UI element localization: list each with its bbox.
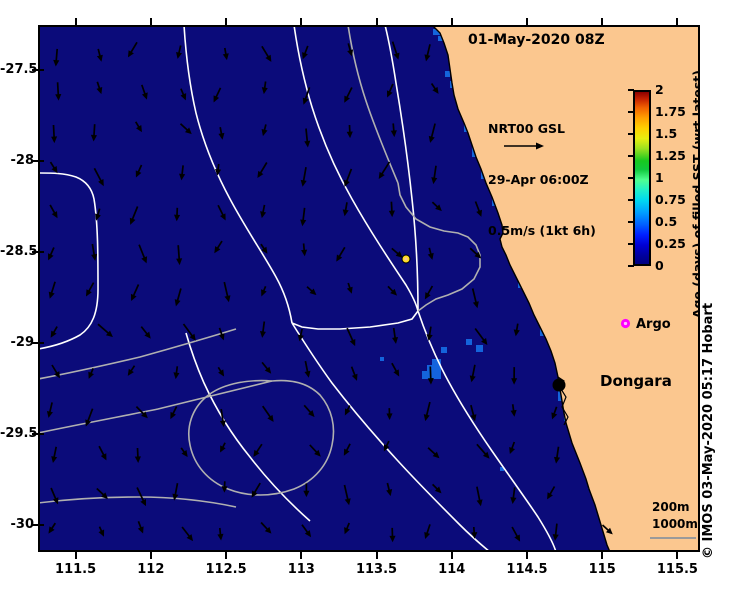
x-tick-mark — [150, 552, 152, 559]
y-tick-label: -29.5 — [0, 426, 34, 441]
y-tick-mark-inner — [38, 433, 44, 435]
x-tick-label: 112.5 — [196, 562, 256, 577]
copyright-text: © IMOS 03-May-2020 05:17 Hobart — [701, 303, 716, 559]
x-tick-mark — [300, 552, 302, 559]
y-tick-mark-inner — [38, 69, 44, 71]
colorbar-tick-label: 1.75 — [655, 104, 686, 119]
x-tick-label: 112 — [121, 562, 181, 577]
x-tick-label: 114 — [422, 562, 482, 577]
x-tick-label: 113 — [271, 562, 331, 577]
reference-arrow-icon — [502, 140, 546, 152]
timestamp-stamp: 01-May-2020 08Z — [468, 32, 605, 48]
x-tick-label: 113.5 — [347, 562, 407, 577]
colorbar-tick-label: 0.25 — [655, 236, 686, 251]
colorbar-tick-mark — [628, 89, 634, 91]
x-tick-mark-top — [225, 18, 227, 25]
argo-marker-map — [402, 255, 410, 263]
x-tick-label: 115 — [572, 562, 632, 577]
x-tick-label: 114.5 — [497, 562, 557, 577]
argo-legend-icon — [620, 318, 631, 329]
colorbar-tick-mark — [628, 111, 634, 113]
figure-canvas: 01-May-2020 08Z NRT00 GSL 29-Apr 06:00Z … — [0, 0, 739, 592]
y-tick-label: -30 — [0, 517, 34, 532]
y-tick-mark-inner — [38, 251, 44, 253]
map-graphic — [40, 27, 698, 550]
x-tick-mark-top — [601, 18, 603, 25]
colorbar-tick-label: 1.25 — [655, 148, 686, 163]
depth-legend-200m: 200m — [652, 500, 690, 514]
y-tick-mark-inner — [38, 160, 44, 162]
current-source-annotation: NRT00 GSL 29-Apr 06:00Z 0.5m/s (1kt 6h) — [488, 86, 596, 273]
colorbar-gradient — [633, 90, 651, 266]
colorbar-tick-label: 0 — [655, 258, 664, 273]
dongara-marker — [553, 379, 566, 392]
colorbar-tick-label: 1.5 — [655, 126, 677, 141]
colorbar-tick-mark — [628, 133, 634, 135]
colorbar-tick-mark — [628, 155, 634, 157]
x-tick-mark-top — [376, 18, 378, 25]
x-tick-mark — [601, 552, 603, 559]
x-tick-mark — [376, 552, 378, 559]
y-tick-label: -28.5 — [0, 244, 34, 259]
x-tick-mark-top — [676, 18, 678, 25]
current-source-line: NRT00 GSL — [488, 120, 596, 137]
dongara-label: Dongara — [600, 372, 672, 390]
y-tick-mark-inner — [38, 524, 44, 526]
x-tick-label: 115.5 — [647, 562, 707, 577]
x-tick-mark — [225, 552, 227, 559]
x-tick-mark — [676, 552, 678, 559]
colorbar-tick-mark — [628, 199, 634, 201]
x-tick-mark-top — [451, 18, 453, 25]
y-tick-label: -28 — [0, 153, 34, 168]
y-tick-label: -27.5 — [0, 62, 34, 77]
x-tick-mark-top — [150, 18, 152, 25]
x-tick-mark-top — [300, 18, 302, 25]
colorbar-tick-mark — [628, 243, 634, 245]
x-tick-mark-top — [75, 18, 77, 25]
x-tick-mark — [451, 552, 453, 559]
colorbar-tick-mark — [628, 221, 634, 223]
colorbar: 00.250.50.7511.251.51.752 — [633, 90, 653, 266]
x-tick-mark-top — [526, 18, 528, 25]
x-tick-label: 111.5 — [46, 562, 106, 577]
colorbar-tick-label: 1 — [655, 170, 664, 185]
colorbar-tick-label: 2 — [655, 82, 664, 97]
current-scale-line: 0.5m/s (1kt 6h) — [488, 222, 596, 239]
y-tick-mark-inner — [38, 342, 44, 344]
colorbar-title: Age (days) of filled SST (wrt latest) — [690, 70, 700, 318]
depth-legend-line — [650, 537, 696, 539]
colorbar-tick-mark — [628, 265, 634, 267]
colorbar-tick-label: 0.5 — [655, 214, 677, 229]
depth-legend-1000m: 1000m — [652, 517, 698, 531]
map-plot-area[interactable]: 01-May-2020 08Z NRT00 GSL 29-Apr 06:00Z … — [38, 25, 700, 552]
x-tick-mark — [75, 552, 77, 559]
colorbar-tick-mark — [628, 177, 634, 179]
colorbar-tick-label: 0.75 — [655, 192, 686, 207]
y-tick-label: -29 — [0, 335, 34, 350]
current-time-line: 29-Apr 06:00Z — [488, 171, 596, 188]
argo-legend-label: Argo — [636, 317, 671, 332]
x-tick-mark — [526, 552, 528, 559]
